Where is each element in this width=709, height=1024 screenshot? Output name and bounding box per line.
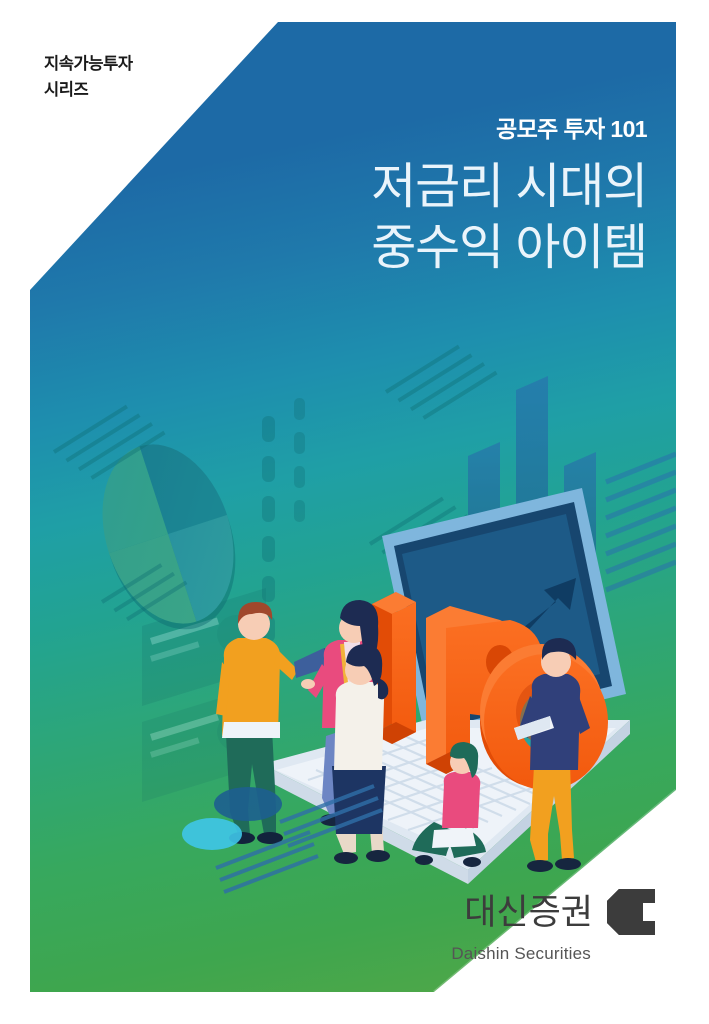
headline-block: 공모주 투자 101 저금리 시대의 중수익 아이템 [371, 118, 647, 279]
logo-row: 대신증권 [464, 887, 657, 937]
brand-name-ko: 대신증권 [464, 895, 593, 930]
title-line-1: 저금리 시대의 [371, 157, 647, 218]
title-line-2: 중수익 아이템 [371, 218, 647, 279]
series-label: 지속가능투자 시리즈 [44, 52, 133, 103]
cover-page: 지속가능투자 시리즈 [0, 0, 709, 1024]
kicker-text: 공모주 투자 101 [371, 118, 647, 141]
brand-name-en: Daishin Securities [451, 944, 591, 964]
dash-column-decor-2 [294, 398, 305, 522]
brand-logo: 대신증권 Daishin Securities [451, 887, 657, 964]
daishin-mark-icon [605, 887, 657, 937]
